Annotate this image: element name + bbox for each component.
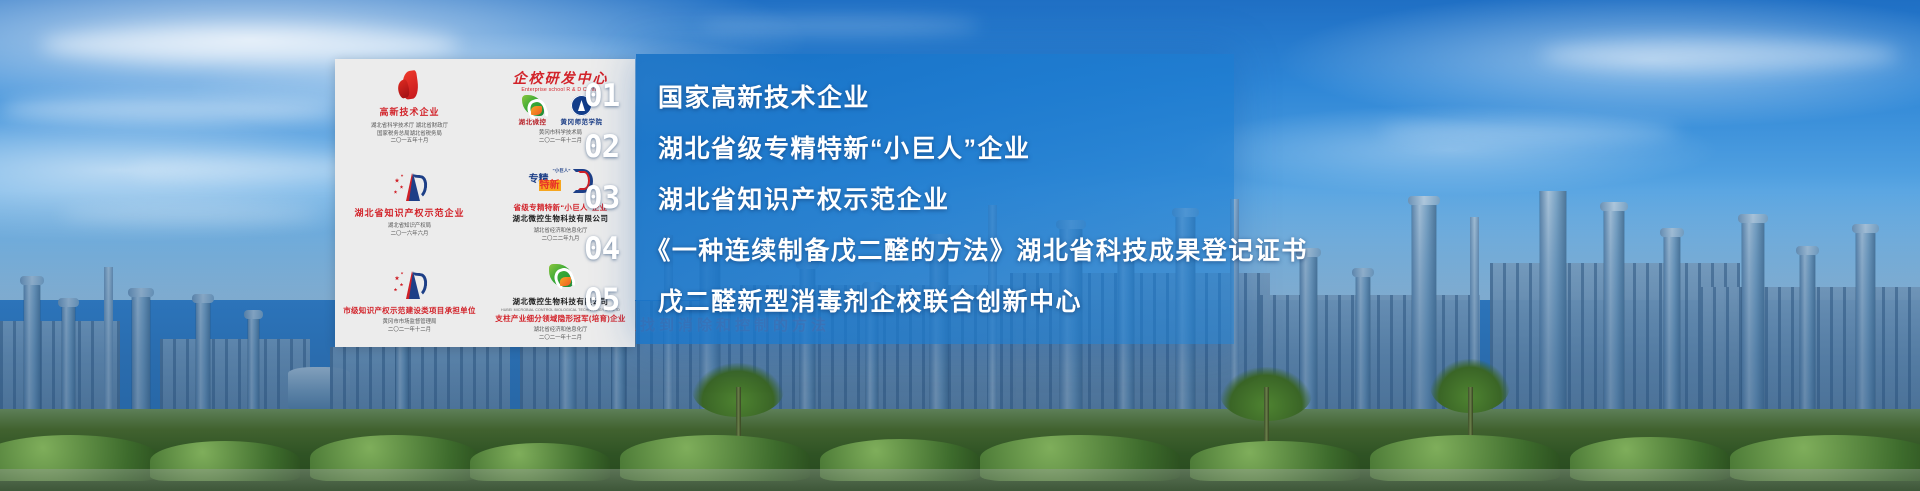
list-item-label: 戊二醛新型消毒剂企校联合创新中心 [658, 282, 1082, 318]
list-item-label: 国家高新技术企业 [658, 78, 870, 114]
list-item[interactable]: 03 湖北省知识产权示范企业 [584, 180, 1224, 216]
list-item-label: 湖北省知识产权示范企业 [658, 180, 950, 216]
list-item-number: 02 [584, 129, 632, 165]
certificate-issuer: 湖北省经济和信息化厅 二〇二一年十二月 [534, 327, 588, 343]
certificate-issuer: 黄冈市市场监督管理局 二〇二一年十二月 [383, 319, 437, 335]
leaf-logo-icon: 湖北微控 [519, 95, 547, 126]
leaf-logo-icon [549, 257, 573, 293]
list-item[interactable]: 02 湖北省级专精特新“小巨人”企业 [584, 129, 1224, 165]
ip-sail-logo-icon [393, 168, 427, 206]
ip-sail-logo-icon [393, 266, 427, 304]
list-item-number: 05 [584, 282, 632, 318]
list-item-label: 《一种连续制备戊二醛的方法》湖北省科技成果登记证书 [645, 231, 1308, 267]
list-item-number: 03 [584, 180, 632, 216]
certificate-issuer: 湖北省科学技术厅 湖北省财政厅 国家税务总局湖北省税务局 二〇一五年十月 [371, 123, 448, 146]
list-item[interactable]: 01 国家高新技术企业 [584, 78, 1224, 114]
certificate-title: 湖北省知识产权示范企业 [354, 208, 464, 219]
list-item[interactable]: 04 《一种连续制备戊二醛的方法》湖北省科技成果登记证书 [584, 231, 1224, 267]
flame-logo-icon [397, 67, 423, 105]
certificate-issuer: 湖北省知识产权局 二〇一六年六月 [388, 223, 431, 239]
honors-list: 01 国家高新技术企业 02 湖北省级专精特新“小巨人”企业 03 湖北省知识产… [584, 78, 1224, 318]
certificate-card[interactable]: 市级知识产权示范建设类项目承担单位 黄冈市市场监督管理局 二〇二一年十二月 [335, 252, 484, 347]
specialized-new-logo-icon: 专精 特新 “小巨人” [529, 163, 593, 201]
certificate-title: 市级知识产权示范建设类项目承担单位 [343, 306, 476, 315]
certificate-card[interactable]: 高新技术企业 湖北省科学技术厅 湖北省财政厅 国家税务总局湖北省税务局 二〇一五… [335, 59, 484, 154]
list-item-number: 01 [584, 78, 632, 114]
banner-stage: 全都有可以找到消除和控制的方法 高新技术企业 湖北省科学技术厅 湖北省财政厅 国… [0, 0, 1920, 491]
certificate-card[interactable]: 湖北省知识产权示范企业 湖北省知识产权局 二〇一六年六月 [335, 156, 484, 251]
certificate-issuer: 湖北省经济和信息化厅 二〇二二年九月 [534, 228, 588, 244]
list-item-number: 04 [584, 231, 619, 267]
list-item-label: 湖北省级专精特新“小巨人”企业 [658, 129, 1031, 165]
certificate-title: 高新技术企业 [379, 107, 439, 118]
certificate-issuer: 黄冈市科学技术局 二〇二一年十二月 [539, 130, 582, 146]
list-item[interactable]: 05 戊二醛新型消毒剂企校联合创新中心 [584, 282, 1224, 318]
